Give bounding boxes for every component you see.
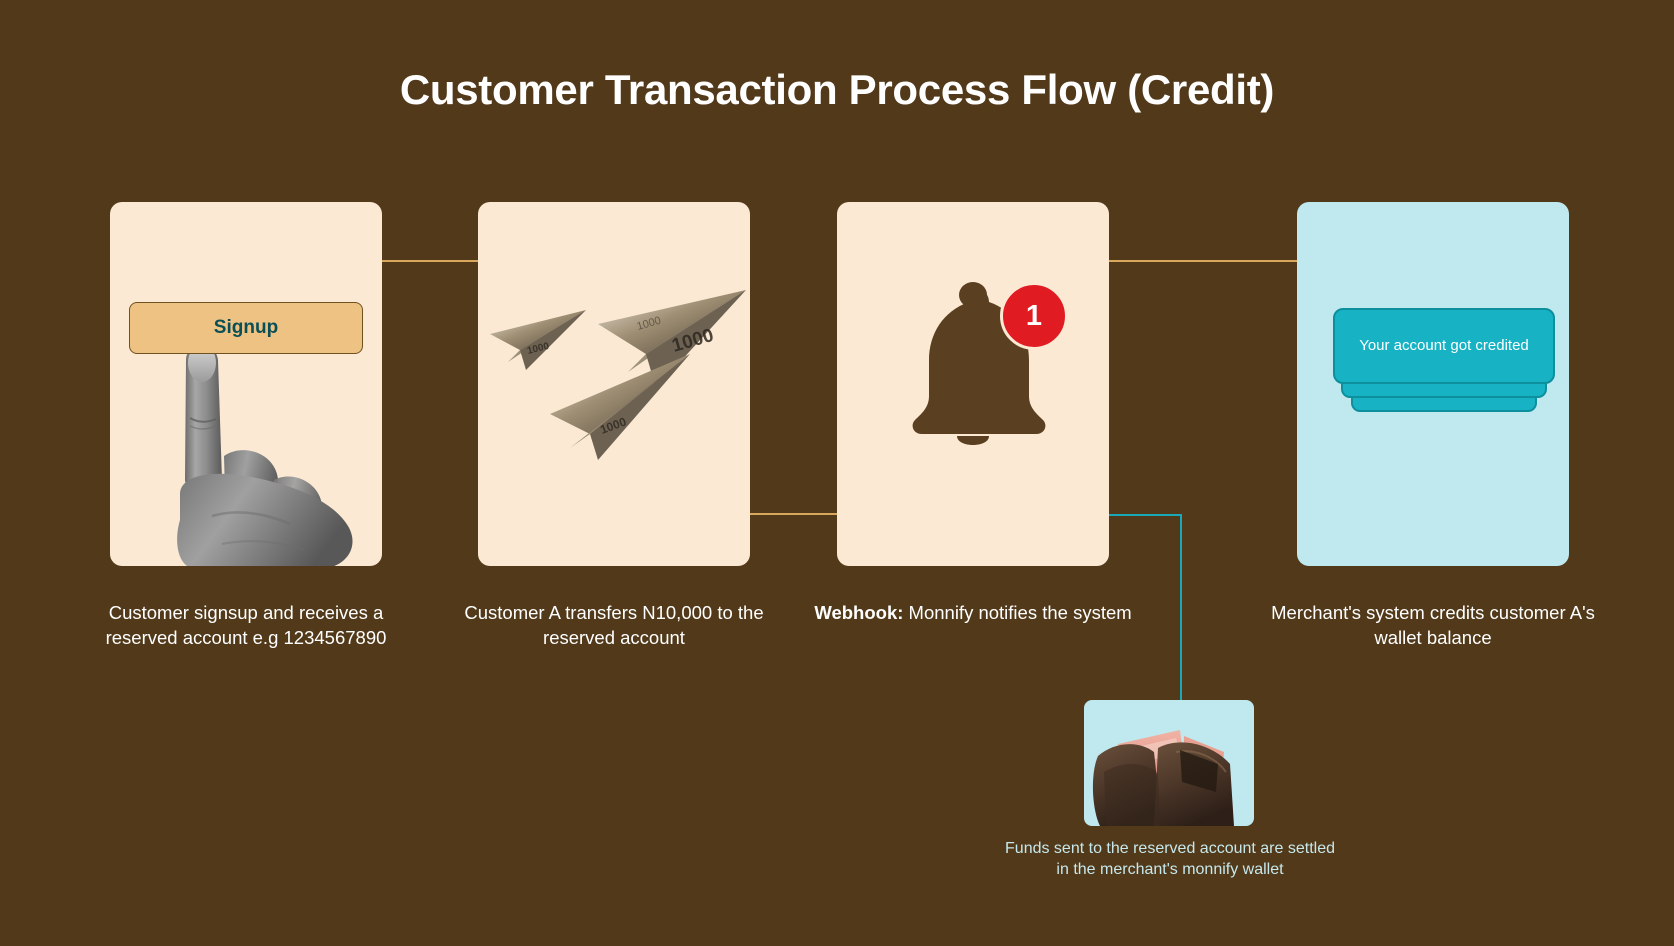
wallet-image (1084, 700, 1254, 826)
connector-step3-step4 (1094, 260, 1309, 262)
wallet-thumbnail[interactable] (1084, 700, 1254, 826)
notification-badge: 1 (1000, 282, 1068, 350)
diagram-canvas: Customer Transaction Process Flow (Credi… (0, 0, 1674, 946)
connector-step1-step2 (370, 260, 490, 262)
connector-step3-wallet-vertical (1180, 514, 1182, 702)
pointing-hand-image (152, 330, 367, 566)
step-card-signup[interactable]: Signup (110, 202, 382, 566)
caption-step-3: Webhook: Monnify notifies the system (805, 600, 1141, 625)
notification-bell-wrapper: 1 (867, 272, 1079, 452)
caption-step-2: Customer A transfers N10,000 to the rese… (446, 600, 782, 650)
step-card-webhook[interactable]: 1 (837, 202, 1109, 566)
signup-button[interactable]: Signup (129, 302, 363, 354)
page-title: Customer Transaction Process Flow (Credi… (0, 66, 1674, 114)
caption-step-3-rest: Monnify notifies the system (903, 602, 1131, 623)
caption-step-1: Customer signsup and receives a reserved… (78, 600, 414, 650)
step-card-credit[interactable]: Your account got credited (1297, 202, 1569, 566)
caption-step-3-bold: Webhook: (814, 602, 903, 623)
toast-notification: Your account got credited (1333, 308, 1555, 384)
money-paper-airplanes-image: 1000 1000 1000 1000 (478, 202, 750, 566)
caption-step-4: Merchant's system credits customer A's w… (1265, 600, 1601, 650)
step-card-transfer[interactable]: 1000 1000 1000 1000 (478, 202, 750, 566)
caption-settlement-branch: Funds sent to the reserved account are s… (1000, 838, 1340, 880)
